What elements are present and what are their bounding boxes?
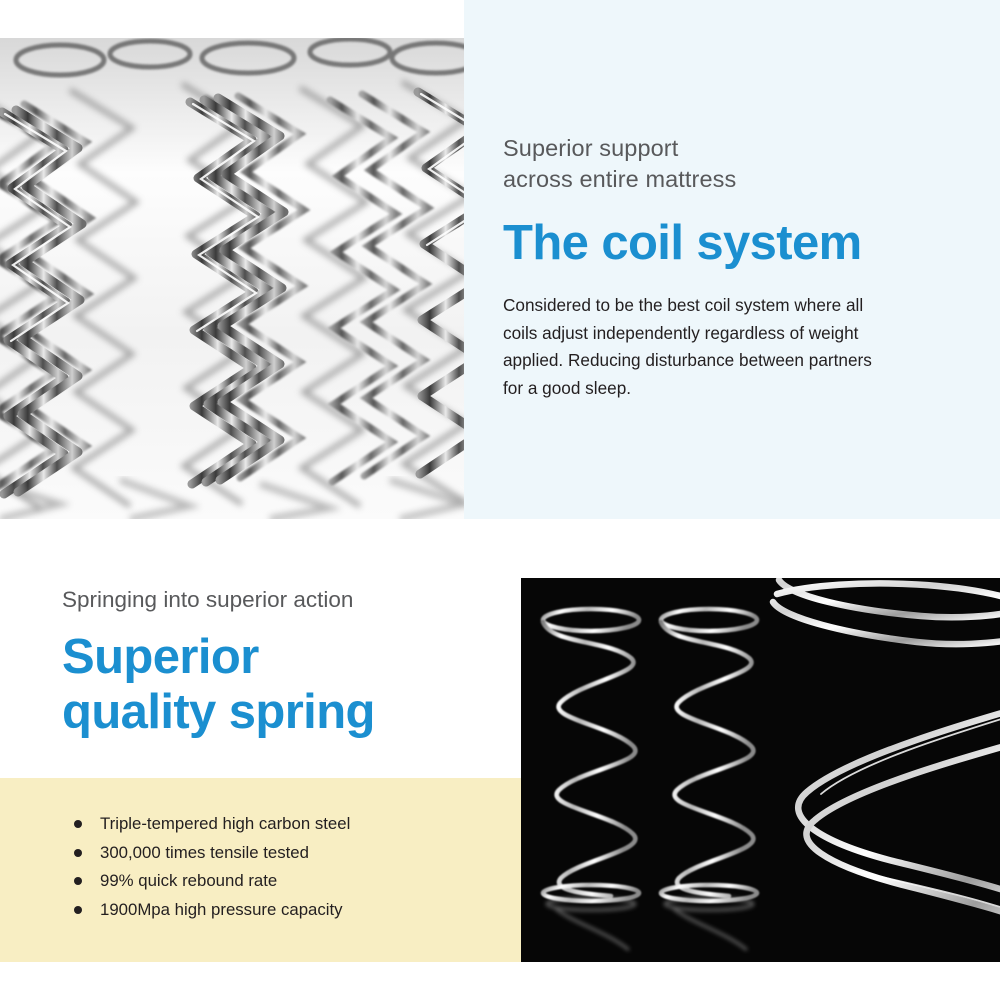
bullet-icon xyxy=(74,849,82,857)
spring-quality-section: Springing into superior action Superior … xyxy=(0,519,1000,1000)
coil-system-body-text: Considered to be the best coil system wh… xyxy=(503,292,895,402)
list-item: 99% quick rebound rate xyxy=(68,867,350,896)
coil-system-headline: The coil system xyxy=(503,215,953,271)
bullet-icon xyxy=(74,877,82,885)
bullet-icon xyxy=(74,820,82,828)
spring-on-black-photo xyxy=(521,578,1000,962)
spec-text: 99% quick rebound rate xyxy=(100,871,277,890)
coil-system-copy-block: Superior support across entire mattress … xyxy=(503,133,953,402)
coil-springs-photo xyxy=(0,38,464,519)
spring-quality-eyebrow: Springing into superior action xyxy=(62,585,512,614)
spec-text: 300,000 times tensile tested xyxy=(100,843,309,862)
spring-spec-list: Triple-tempered high carbon steel 300,00… xyxy=(68,810,350,924)
coil-system-text-panel: Superior support across entire mattress … xyxy=(464,0,1000,519)
list-item: 1900Mpa high pressure capacity xyxy=(68,896,350,925)
list-item: 300,000 times tensile tested xyxy=(68,839,350,868)
spring-quality-headline: Superior quality spring xyxy=(62,630,512,740)
spec-text: Triple-tempered high carbon steel xyxy=(100,814,350,833)
spring-quality-copy-block: Springing into superior action Superior … xyxy=(62,585,512,740)
spring-quality-text-panel: Springing into superior action Superior … xyxy=(0,519,521,1000)
bullet-icon xyxy=(74,906,82,914)
list-item: Triple-tempered high carbon steel xyxy=(68,810,350,839)
spec-text: 1900Mpa high pressure capacity xyxy=(100,900,343,919)
product-feature-page: Superior support across entire mattress … xyxy=(0,0,1000,1000)
coil-system-eyebrow: Superior support across entire mattress xyxy=(503,133,953,195)
coil-system-section: Superior support across entire mattress … xyxy=(0,0,1000,519)
spring-spec-panel: Triple-tempered high carbon steel 300,00… xyxy=(0,778,521,962)
